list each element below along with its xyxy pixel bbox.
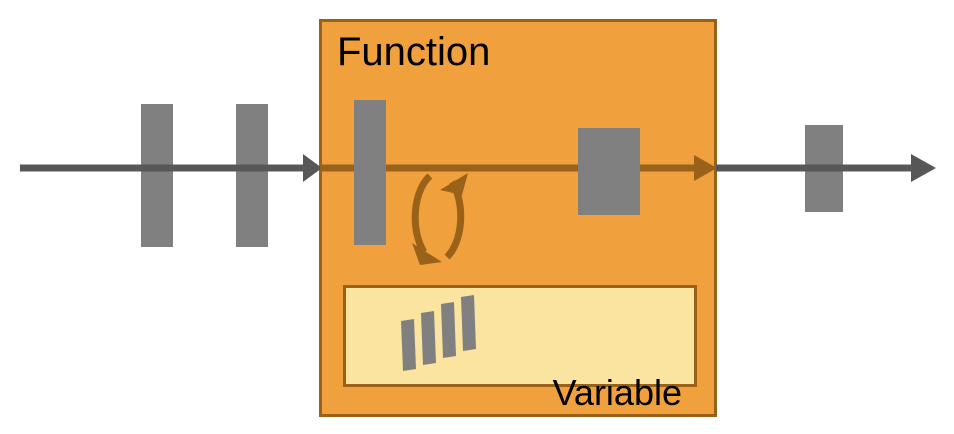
function-label: Function xyxy=(337,31,490,74)
variable-label: Variable (State) xyxy=(470,296,682,434)
variable-label-line-1: Variable xyxy=(470,374,682,413)
diagram-canvas: Function Variable (State) xyxy=(0,0,954,434)
function-block xyxy=(354,100,386,245)
input-block-2 xyxy=(236,104,268,247)
input-block-1 xyxy=(141,104,173,247)
output-block xyxy=(578,128,640,215)
